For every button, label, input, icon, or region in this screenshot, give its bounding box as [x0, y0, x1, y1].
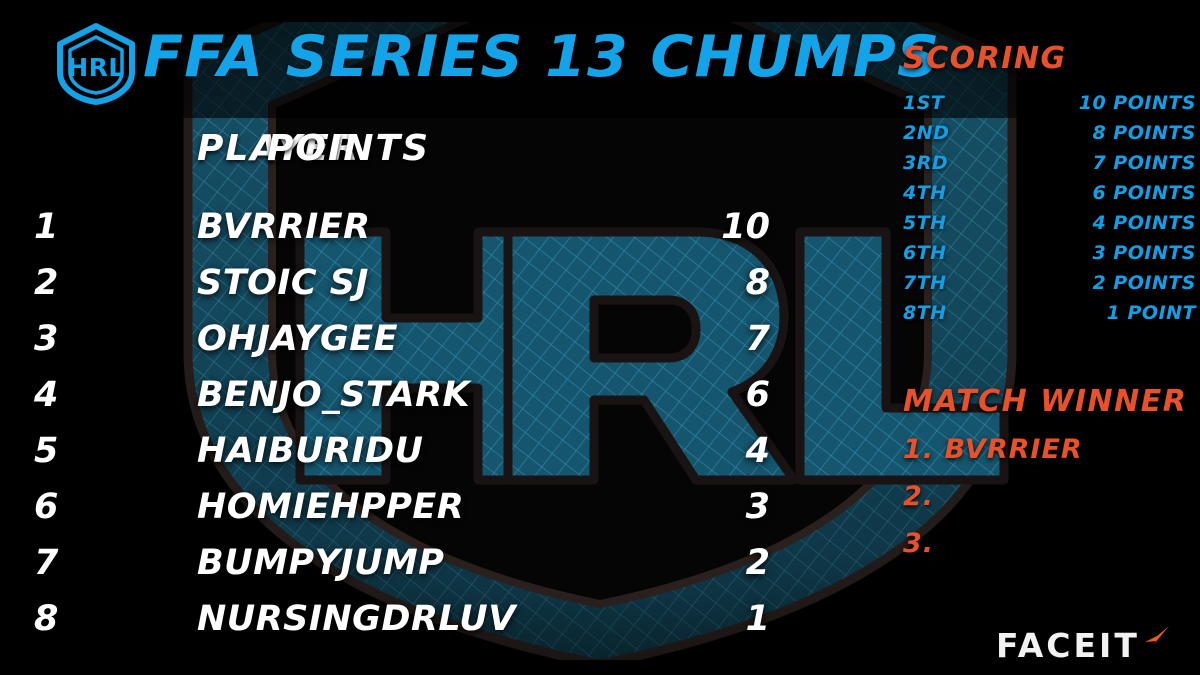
match-winner-title: MATCH WINNER: [903, 387, 1187, 417]
scoring-place: 2ND: [903, 120, 949, 146]
table-row: 1 BVRRIER 10: [0, 205, 800, 261]
scoring-place: 4TH: [903, 180, 947, 206]
match-winner-list: 1. BVRRIER 2. 3.: [896, 432, 1200, 573]
row-rank: 3: [34, 317, 80, 361]
scoring-row: 7TH 2 POINTS: [896, 270, 1200, 300]
scoreboard-graphic: HRL FFA SERIES 13 CHUMPS PLAYER POINTS 1…: [0, 0, 1200, 675]
scoring-place: 8TH: [903, 300, 947, 326]
scoring-points: 6 POINTS: [956, 180, 1196, 206]
table-row: 2 STOIC SJ 8: [0, 261, 800, 317]
table-row: 5 HAIBURIDU 4: [0, 429, 800, 485]
faceit-arrow-icon: [1137, 624, 1171, 658]
scoring-row: 6TH 3 POINTS: [896, 240, 1200, 270]
row-player: HOMIEHPPER: [197, 485, 464, 529]
scoring-points: 1 POINT: [956, 300, 1196, 326]
row-rank: 1: [34, 205, 80, 249]
scoring-row: 3RD 7 POINTS: [896, 150, 1200, 180]
row-points: 4: [640, 429, 770, 473]
row-player: HAIBURIDU: [197, 429, 423, 473]
column-header-points: POINTS: [267, 131, 430, 167]
page-title: FFA SERIES 13 CHUMPS: [143, 29, 940, 86]
row-rank: 2: [34, 261, 80, 305]
scoring-place: 7TH: [903, 270, 947, 296]
row-rank: 4: [34, 373, 80, 417]
row-rank: 7: [34, 541, 80, 585]
scoring-title: SCORING: [903, 44, 1067, 74]
row-points: 2: [640, 541, 770, 585]
list-item: 1. BVRRIER: [896, 432, 1200, 479]
scoring-points: 8 POINTS: [956, 120, 1196, 146]
table-row: 3 OHJAYGEE 7: [0, 317, 800, 373]
scoring-points: 10 POINTS: [956, 90, 1196, 116]
row-points: 6: [640, 373, 770, 417]
table-row: 8 NURSINGDRLUV 1: [0, 597, 800, 653]
scoring-points: 2 POINTS: [956, 270, 1196, 296]
list-item: 3.: [896, 526, 1200, 573]
row-player: NURSINGDRLUV: [197, 597, 516, 641]
faceit-logo: FACEIT: [996, 626, 1192, 666]
table-row: 4 BENJO_STARK 6: [0, 373, 800, 429]
row-player: BENJO_STARK: [197, 373, 470, 417]
scoring-row: 8TH 1 POINT: [896, 300, 1200, 330]
row-player: STOIC SJ: [197, 261, 369, 305]
row-rank: 8: [34, 597, 80, 641]
table-row: 7 BUMPYJUMP 2: [0, 541, 800, 597]
list-item: 2.: [896, 479, 1200, 526]
faceit-wordmark: FACEIT: [996, 626, 1140, 666]
scoring-points: 7 POINTS: [956, 150, 1196, 176]
scoring-place: 3RD: [903, 150, 948, 176]
svg-text:HRL: HRL: [67, 53, 125, 82]
scoring-row: 2ND 8 POINTS: [896, 120, 1200, 150]
row-points: 3: [640, 485, 770, 529]
row-player: OHJAYGEE: [197, 317, 398, 361]
leaderboard-rows: 1 BVRRIER 10 2 STOIC SJ 8 3 OHJAYGEE 7 4…: [0, 205, 800, 653]
row-points: 10: [640, 205, 770, 249]
row-points: 7: [640, 317, 770, 361]
row-points: 1: [640, 597, 770, 641]
scoring-place: 1ST: [903, 90, 944, 116]
match-winner-entry: 3.: [903, 526, 934, 562]
row-points: 8: [640, 261, 770, 305]
scoring-table: 1ST 10 POINTS 2ND 8 POINTS 3RD 7 POINTS …: [896, 90, 1200, 330]
table-header-row: PLAYER POINTS: [0, 131, 860, 177]
scoring-place: 6TH: [903, 240, 947, 266]
row-rank: 6: [34, 485, 80, 529]
match-winner-entry: 1. BVRRIER: [903, 432, 1083, 468]
right-panel: SCORING 1ST 10 POINTS 2ND 8 POINTS 3RD 7…: [896, 0, 1200, 675]
scoring-place: 5TH: [903, 210, 947, 236]
table-row: 6 HOMIEHPPER 3: [0, 485, 800, 541]
scoring-points: 4 POINTS: [956, 210, 1196, 236]
row-player: BVRRIER: [197, 205, 371, 249]
scoring-row: 5TH 4 POINTS: [896, 210, 1200, 240]
scoring-points: 3 POINTS: [956, 240, 1196, 266]
row-rank: 5: [34, 429, 80, 473]
scoring-row: 1ST 10 POINTS: [896, 90, 1200, 120]
row-player: BUMPYJUMP: [197, 541, 444, 585]
match-winner-entry: 2.: [903, 479, 934, 515]
scoring-row: 4TH 6 POINTS: [896, 180, 1200, 210]
hrl-shield-icon: HRL: [52, 22, 140, 106]
